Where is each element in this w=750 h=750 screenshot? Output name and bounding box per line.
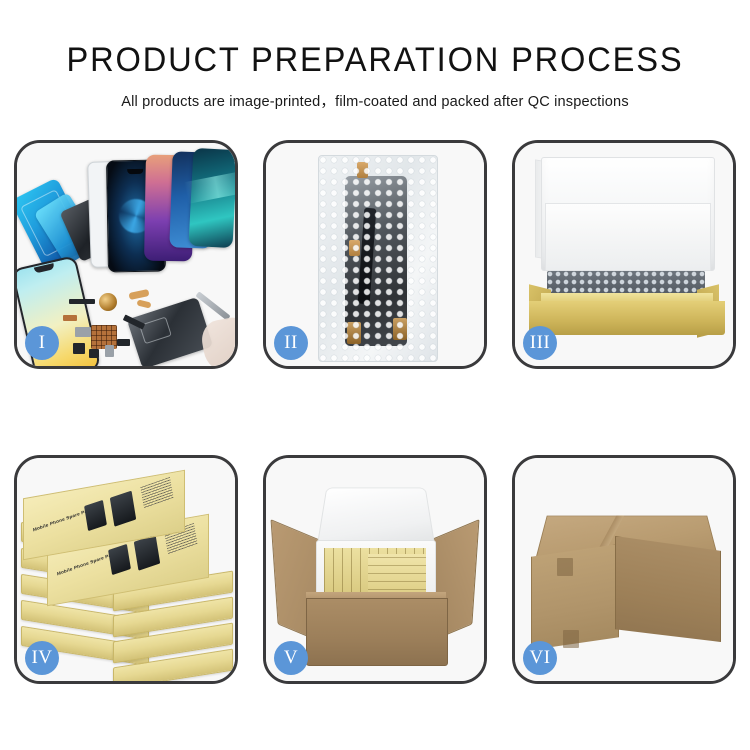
process-step-panel-1[interactable]: I (14, 140, 238, 369)
camera-module-part (75, 327, 91, 337)
sim-tray-part (105, 345, 114, 357)
page-title: PRODUCT PREPARATION PROCESS (15, 0, 735, 79)
flex-cable-part-2 (136, 299, 151, 308)
foam-cooler-lid (317, 488, 435, 546)
wrapped-flex-cable (358, 208, 377, 305)
page-header: PRODUCT PREPARATION PROCESS All products… (0, 0, 750, 111)
carton-tape-upper (557, 558, 573, 576)
copper-shield-part (63, 315, 77, 321)
connector-bottom-right (393, 318, 407, 340)
connector-bottom-left (347, 322, 361, 344)
kraft-tray-front (529, 301, 725, 335)
phone-housing-frame (127, 297, 213, 366)
step-badge-2: II (274, 326, 308, 360)
foam-sheet (545, 203, 711, 271)
step-badge-6: VI (523, 641, 557, 675)
process-step-panel-6[interactable]: VI (512, 455, 736, 684)
kraft-box-stack: Mobile Phone Spare Parts Mobile Phone Sp… (21, 476, 233, 672)
phone-screen-teal (188, 148, 235, 248)
step-badge-5: V (274, 641, 308, 675)
vibrator-motor-part (73, 343, 85, 354)
bubble-wrap-bag (318, 155, 438, 362)
page-subtitle: All products are image-printed，film-coat… (0, 79, 750, 111)
process-step-panel-5[interactable]: V (263, 455, 487, 684)
process-step-panel-3[interactable]: III (512, 140, 736, 369)
flex-cable-part-1 (128, 289, 149, 300)
box-window-phone-b1 (110, 491, 136, 527)
tape-tab-middle (349, 240, 360, 256)
step-badge-3: III (523, 326, 557, 360)
sealed-carton-right-face (615, 536, 721, 642)
box-window-phone-a1 (84, 500, 107, 531)
carton-tape-lower (563, 630, 579, 648)
process-step-panel-4[interactable]: Mobile Phone Spare Parts Mobile Phone Sp… (14, 455, 238, 684)
process-step-panel-2[interactable]: II (263, 140, 487, 369)
tape-tab-top (357, 162, 368, 178)
process-step-grid: I II III (14, 140, 736, 684)
step-badge-4: IV (25, 641, 59, 675)
antenna-strip-part (69, 299, 95, 304)
connector-part (117, 339, 130, 346)
speaker-coil-part (99, 293, 117, 311)
carton-body (306, 598, 448, 666)
wrapped-screen-part (345, 176, 407, 346)
step-badge-1: I (25, 326, 59, 360)
box-spec-lines-1 (140, 477, 173, 508)
small-ic-part (89, 349, 99, 358)
box-window-phone-a2 (108, 544, 131, 575)
